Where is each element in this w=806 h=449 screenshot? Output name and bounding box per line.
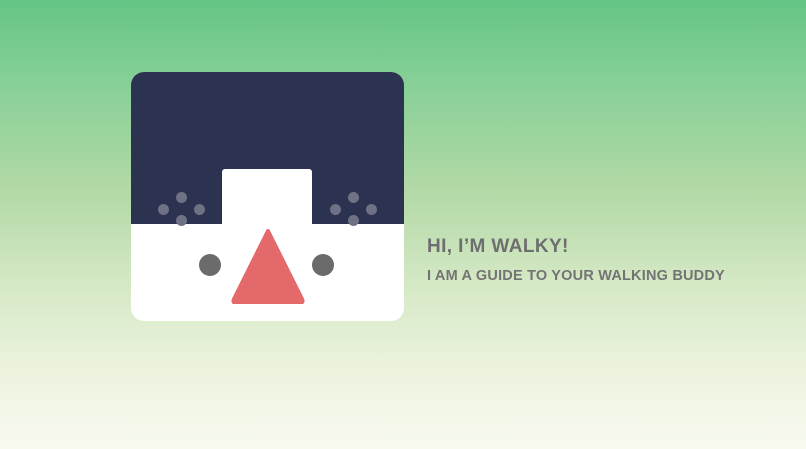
intro-subtitle: I AM A GUIDE TO YOUR WALKING BUDDY	[427, 268, 767, 285]
cheek-dot-icon	[366, 204, 377, 215]
cheek-dot-icon	[348, 192, 359, 203]
cheek-dot-icon	[176, 215, 187, 226]
intro-title: HI, I’M WALKY!	[427, 236, 767, 259]
eye-right	[312, 254, 334, 276]
forehead-notch	[222, 169, 312, 225]
cheek-dot-icon	[158, 204, 169, 215]
nose-triangle-icon	[231, 229, 305, 304]
cheek-dot-icon	[194, 204, 205, 215]
cheek-dot-icon	[348, 215, 359, 226]
app-splash-screen: HI, I’M WALKY! I AM A GUIDE TO YOUR WALK…	[0, 0, 806, 449]
eye-left	[199, 254, 221, 276]
cheek-dots-left	[155, 190, 209, 226]
cheek-dot-icon	[176, 192, 187, 203]
cheek-dots-right	[327, 190, 381, 226]
head-shape	[131, 72, 404, 321]
cheek-dot-icon	[330, 204, 341, 215]
intro-text-block: HI, I’M WALKY! I AM A GUIDE TO YOUR WALK…	[427, 236, 767, 285]
walky-mascot	[131, 72, 404, 321]
nose-triangle	[231, 229, 305, 304]
